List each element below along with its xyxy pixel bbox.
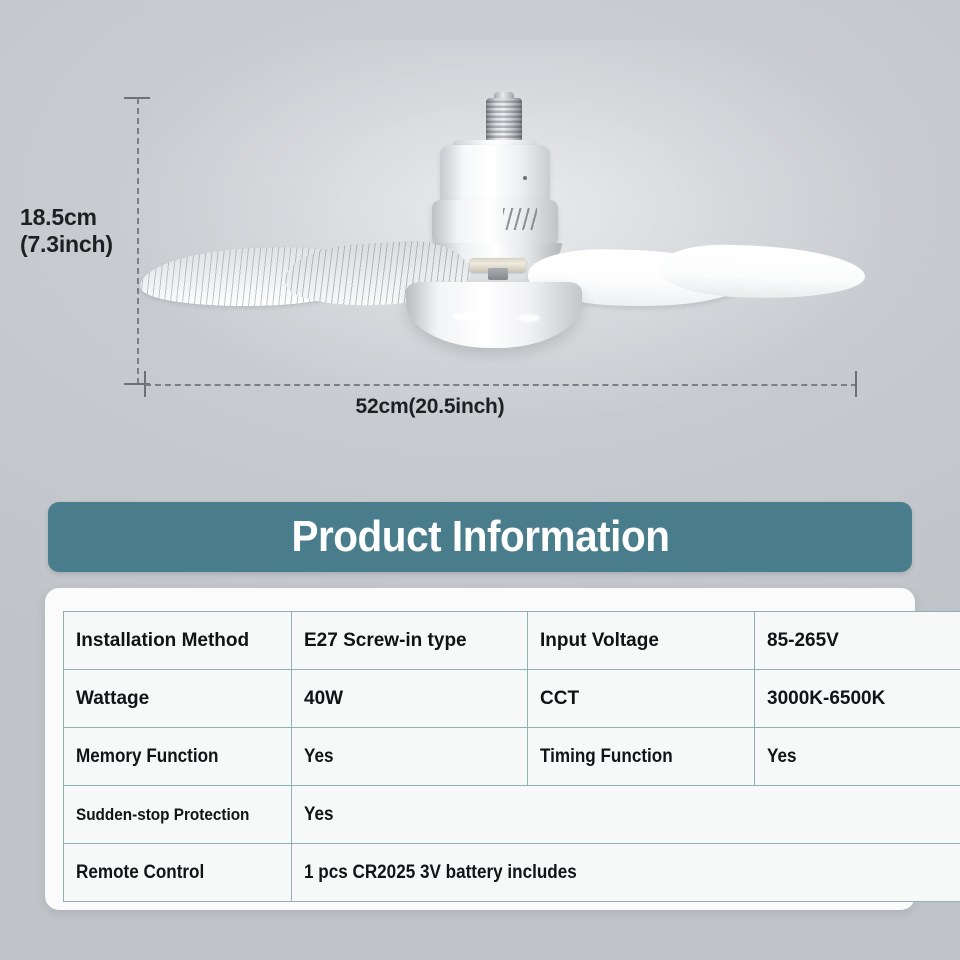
motor-housing-upper <box>440 145 550 203</box>
width-dimension-label: 52cm(20.5inch) <box>0 395 960 419</box>
e27-screw-socket-icon <box>486 98 522 146</box>
spec-label-installation-method: Installation Method <box>64 612 292 670</box>
spec-value-sudden-stop-protection: Yes <box>292 786 960 844</box>
spec-value-input-voltage: 85-265V <box>755 612 960 670</box>
spec-label-cct: CCT <box>528 670 755 728</box>
spec-label-remote-control: Remote Control <box>64 844 292 902</box>
spec-value-timing-function: Yes <box>755 728 960 786</box>
spec-label-memory-function: Memory Function <box>64 728 292 786</box>
banner-title: Product Information <box>291 512 669 562</box>
spec-value-memory-function: Yes <box>292 728 528 786</box>
height-dimension-label: 18.5cm (7.3inch) <box>20 204 132 257</box>
table-row: Installation Method E27 Screw-in type In… <box>64 612 960 670</box>
product-information-banner: Product Information <box>48 502 912 572</box>
spec-value-installation-method: E27 Screw-in type <box>292 612 528 670</box>
spec-value-cct: 3000K-6500K <box>755 670 960 728</box>
indicator-dot-icon <box>523 176 527 180</box>
height-dimension-inch: (7.3inch) <box>20 231 132 258</box>
table-row: Wattage 40W CCT 3000K-6500K <box>64 670 960 728</box>
height-dimension-cm: 18.5cm <box>20 204 132 231</box>
specification-card: Installation Method E27 Screw-in type In… <box>45 588 915 910</box>
fan-blade-right-outer <box>659 242 866 301</box>
spec-label-input-voltage: Input Voltage <box>528 612 755 670</box>
specification-table-body: Installation Method E27 Screw-in type In… <box>64 612 960 902</box>
specification-table: Installation Method E27 Screw-in type In… <box>63 611 960 902</box>
spec-label-timing-function: Timing Function <box>528 728 755 786</box>
width-dimension-line <box>145 384 857 386</box>
table-row: Remote Control 1 pcs CR2025 3V battery i… <box>64 844 960 902</box>
dome-highlight-left <box>452 312 486 321</box>
table-row: Memory Function Yes Timing Function Yes <box>64 728 960 786</box>
spec-value-remote-control: 1 pcs CR2025 3V battery includes <box>292 844 960 902</box>
spec-label-sudden-stop-protection: Sudden-stop Protection <box>64 786 292 844</box>
table-row: Sudden-stop Protection Yes <box>64 786 960 844</box>
spec-label-wattage: Wattage <box>64 670 292 728</box>
fan-blade-left-outer <box>139 244 371 310</box>
blade-hub-screw-icon <box>488 268 508 280</box>
product-photo: 18.5cm (7.3inch) 52cm(20.5inch) <box>0 0 960 480</box>
height-dimension-line <box>137 98 139 384</box>
spec-value-wattage: 40W <box>292 670 528 728</box>
vent-slots-icon <box>503 208 537 230</box>
width-dimension-cap-right <box>855 371 857 397</box>
light-diffuser-dome <box>406 282 582 348</box>
width-dimension-text: 52cm(20.5inch) <box>356 395 505 418</box>
dome-highlight-right <box>518 314 540 322</box>
product-info-page: 18.5cm (7.3inch) 52cm(20.5inch) Product … <box>0 0 960 960</box>
